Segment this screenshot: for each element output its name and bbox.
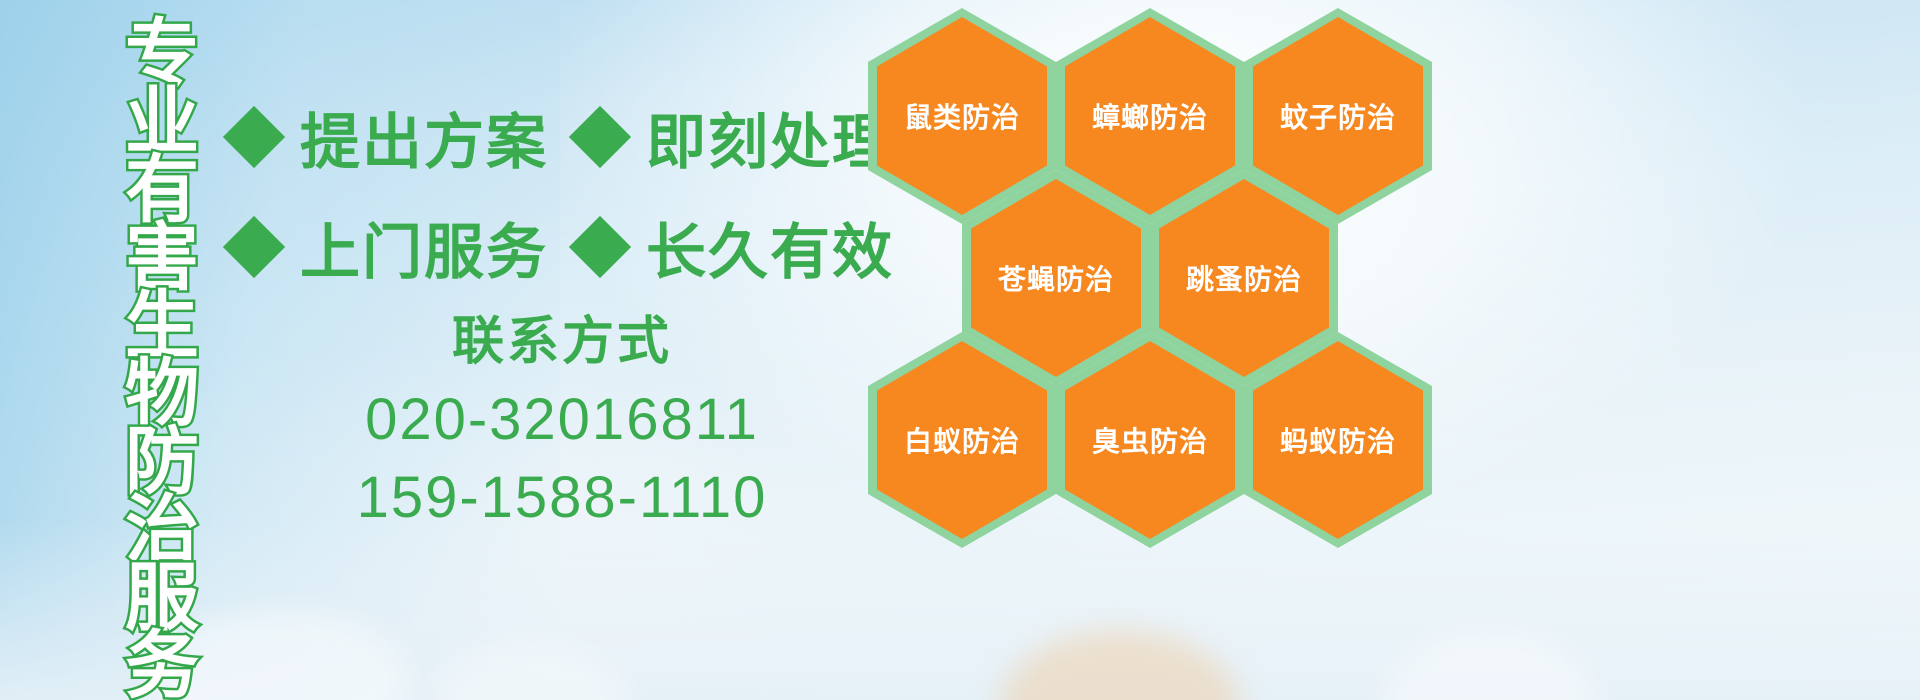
contact-phone-landline[interactable]: 020-32016811 xyxy=(232,381,892,459)
diamond-bullet-icon xyxy=(223,216,285,278)
contact-block: 联系方式 020-32016811 159-1588-1110 xyxy=(232,310,892,538)
background-blob xyxy=(1000,630,1240,700)
service-hex-bedbug[interactable]: 臭虫防治 xyxy=(1056,332,1244,548)
vertical-headline-char: 防 xyxy=(125,426,199,494)
service-label: 苍蝇防治 xyxy=(998,258,1114,298)
vertical-headline-char: 生 xyxy=(125,290,199,358)
service-label: 臭虫防治 xyxy=(1092,420,1208,460)
service-label: 蟑螂防治 xyxy=(1092,96,1208,136)
vertical-headline-char: 服 xyxy=(125,562,199,630)
service-label: 跳蚤防治 xyxy=(1186,258,1302,298)
pest-control-banner: 专 业 有 害 生 物 防 治 服 务 提出方案 即刻处理 上门服务 长久有效 … xyxy=(0,0,1920,700)
feature-label: 提出方案 xyxy=(300,94,548,181)
diamond-bullet-icon xyxy=(569,106,631,168)
vertical-headline-char: 有 xyxy=(125,154,199,222)
background-blob xyxy=(430,640,630,700)
vertical-headline-char: 专 xyxy=(125,18,199,86)
vertical-headline-char: 业 xyxy=(125,86,199,154)
feature-label: 上门服务 xyxy=(300,204,548,291)
contact-phone-mobile[interactable]: 159-1588-1110 xyxy=(232,459,892,537)
service-hexagon-cluster: 鼠类防治 蟑螂防治 蚊子防治 苍蝇防治 跳蚤防治 白蚁防治 xyxy=(856,0,1456,560)
service-label: 蚊子防治 xyxy=(1280,96,1396,136)
feature-list: 提出方案 即刻处理 上门服务 长久有效 xyxy=(232,82,872,302)
feature-row: 上门服务 长久有效 xyxy=(232,192,872,302)
service-hex-ant[interactable]: 蚂蚁防治 xyxy=(1244,332,1432,548)
service-hex-termite[interactable]: 白蚁防治 xyxy=(868,332,1056,548)
vertical-headline-char: 害 xyxy=(125,222,199,290)
service-label: 白蚁防治 xyxy=(904,420,1020,460)
diamond-bullet-icon xyxy=(223,106,285,168)
vertical-headline-char: 务 xyxy=(125,630,199,698)
vertical-headline-char: 物 xyxy=(125,358,199,426)
service-label: 鼠类防治 xyxy=(904,96,1020,136)
contact-title: 联系方式 xyxy=(232,310,892,375)
service-label: 蚂蚁防治 xyxy=(1280,420,1396,460)
background-blob xyxy=(1380,630,1600,700)
feature-row: 提出方案 即刻处理 xyxy=(232,82,872,192)
vertical-headline: 专 业 有 害 生 物 防 治 服 务 xyxy=(108,18,216,578)
vertical-headline-char: 治 xyxy=(125,494,199,562)
diamond-bullet-icon xyxy=(569,216,631,278)
